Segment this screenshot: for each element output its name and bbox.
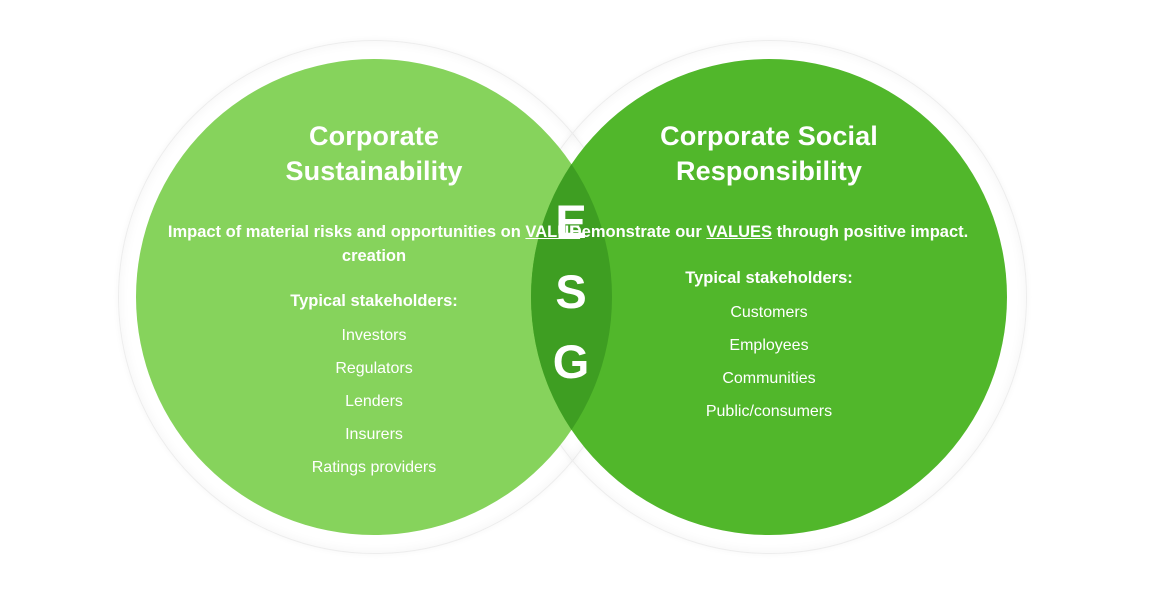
left-title-line2: Sustainability — [286, 156, 463, 186]
left-description: Impact of material risks and opportuniti… — [160, 221, 588, 268]
left-stakeholders-heading: Typical stakeholders: — [160, 292, 588, 311]
list-item: Communities — [555, 371, 983, 387]
list-item: Employees — [555, 338, 983, 354]
left-description-pre: Impact of material risks and opportuniti… — [168, 223, 526, 241]
right-title-line2: Responsibility — [676, 156, 862, 186]
right-description-emphasis: VALUES — [706, 223, 772, 241]
list-item: Investors — [160, 328, 588, 344]
list-item: Insurers — [160, 427, 588, 443]
left-description-post: creation — [342, 247, 406, 265]
esg-letter-s: S — [541, 268, 601, 315]
right-stakeholders-heading: Typical stakeholders: — [555, 269, 983, 288]
list-item: Regulators — [160, 361, 588, 377]
esg-label: E S G — [541, 198, 601, 385]
left-stakeholders-list: Investors Regulators Lenders Insurers Ra… — [160, 328, 588, 476]
list-item: Lenders — [160, 394, 588, 410]
right-stakeholders-list: Customers Employees Communities Public/c… — [555, 305, 983, 420]
esg-letter-g: G — [541, 338, 601, 385]
right-title-line1: Corporate Social — [660, 121, 878, 151]
panel-corporate-social-responsibility: Corporate Social Responsibility Demonstr… — [531, 59, 1007, 535]
venn-diagram-canvas: Corporate Sustainability Impact of mater… — [0, 0, 1157, 595]
esg-letter-e: E — [541, 198, 601, 245]
left-title: Corporate Sustainability — [160, 119, 588, 188]
right-description: Demonstrate our VALUES through positive … — [555, 221, 983, 244]
left-title-line1: Corporate — [309, 121, 439, 151]
list-item: Ratings providers — [160, 460, 588, 476]
list-item: Customers — [555, 305, 983, 321]
list-item: Public/consumers — [555, 404, 983, 420]
right-title: Corporate Social Responsibility — [555, 119, 983, 188]
right-description-post: through positive impact. — [772, 223, 968, 241]
